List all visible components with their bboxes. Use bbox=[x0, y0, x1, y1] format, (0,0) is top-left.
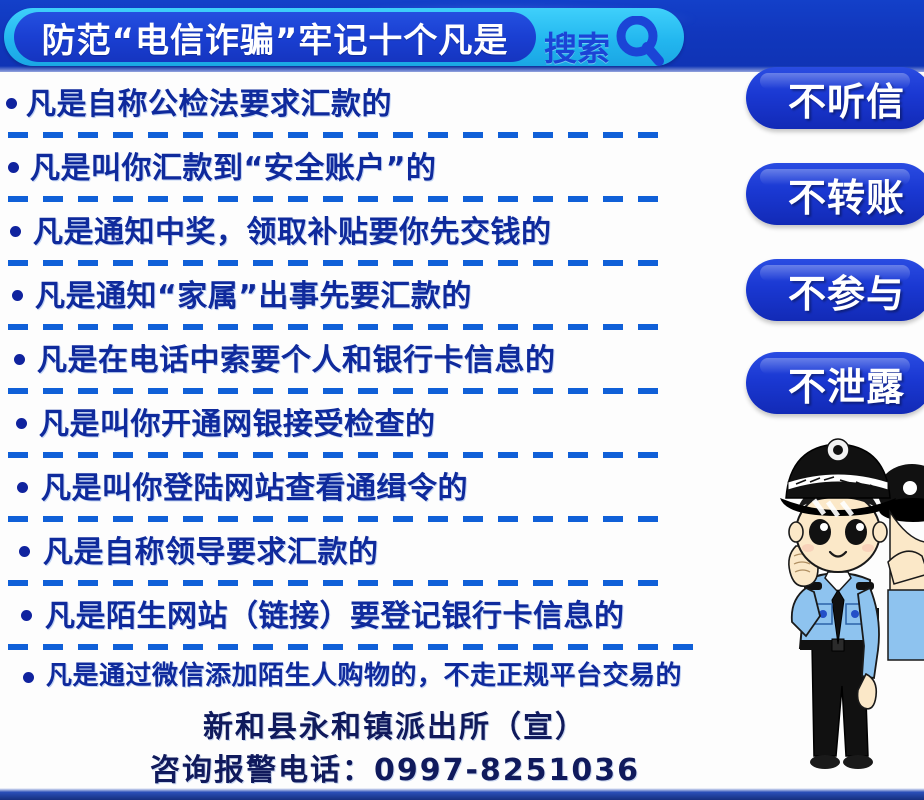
anti-fraud-poster: 防范“电信诈骗”牢记十个凡是 搜索 凡是自称公检法要求汇款的 凡是叫你汇款到“安… bbox=[0, 0, 924, 800]
page-title: 防范“电信诈骗”牢记十个凡是 bbox=[42, 13, 509, 62]
bullet-icon bbox=[19, 546, 30, 557]
slogan-pill-2[interactable]: 不参与 bbox=[746, 259, 924, 321]
list-item: 凡是叫你汇款到“安全账户”的 bbox=[0, 138, 720, 202]
list-item: 凡是叫你登陆网站查看通缉令的 bbox=[0, 458, 720, 522]
list-item-label: 凡是通过微信添加陌生人购物的，不走正规平台交易的 bbox=[46, 655, 682, 692]
header-banner: 防范“电信诈骗”牢记十个凡是 搜索 bbox=[4, 8, 684, 66]
list-item: 凡是自称公检法要求汇款的 bbox=[0, 74, 720, 138]
hotline-number: 咨询报警电话：0997-8251036 bbox=[0, 749, 790, 792]
bullet-icon bbox=[14, 354, 25, 365]
list-item: 凡是通过微信添加陌生人购物的，不走正规平台交易的 bbox=[0, 650, 720, 714]
search-label[interactable]: 搜索 bbox=[544, 22, 610, 70]
list-item-label: 凡是自称领导要求汇款的 bbox=[43, 527, 379, 571]
bullet-icon bbox=[23, 672, 34, 683]
list-item: 凡是自称领导要求汇款的 bbox=[0, 522, 720, 586]
slogan-pill-0[interactable]: 不听信 bbox=[746, 67, 924, 129]
bullet-icon bbox=[12, 290, 23, 301]
bullet-icon bbox=[10, 226, 21, 237]
header-banner-inner: 防范“电信诈骗”牢记十个凡是 bbox=[14, 12, 536, 62]
list-item: 凡是陌生网站（链接）要登记银行卡信息的 bbox=[0, 586, 720, 650]
slogan-pill-3[interactable]: 不泄露 bbox=[746, 352, 924, 414]
slogan-pill-1[interactable]: 不转账 bbox=[746, 163, 924, 225]
list-item-label: 凡是通知“家属”出事先要汇款的 bbox=[35, 271, 472, 315]
list-item-label: 凡是自称公检法要求汇款的 bbox=[26, 79, 392, 123]
magnifier-icon[interactable] bbox=[616, 16, 664, 66]
list-item: 凡是叫你开通网银接受检查的 bbox=[0, 394, 720, 458]
bullet-icon bbox=[17, 482, 28, 493]
footer: 新和县永和镇派出所（宣） 咨询报警电话：0997-8251036 bbox=[0, 706, 790, 792]
bullet-icon bbox=[6, 98, 17, 109]
slogan-label: 不听信 bbox=[788, 71, 905, 126]
bullet-icon bbox=[8, 162, 19, 173]
bullet-icon bbox=[21, 610, 32, 621]
list-item: 凡是在电话中索要个人和银行卡信息的 bbox=[0, 330, 720, 394]
slogan-label: 不转账 bbox=[788, 167, 905, 222]
list-item-label: 凡是陌生网站（链接）要登记银行卡信息的 bbox=[45, 591, 625, 635]
list-item-label: 凡是叫你登陆网站查看通缉令的 bbox=[41, 463, 468, 507]
rules-list: 凡是自称公检法要求汇款的 凡是叫你汇款到“安全账户”的 凡是通知中奖，领取补贴要… bbox=[0, 74, 720, 714]
issuing-organization: 新和县永和镇派出所（宣） bbox=[0, 706, 790, 749]
bullet-icon bbox=[16, 418, 27, 429]
police-officer-mascot bbox=[770, 412, 924, 792]
list-item: 凡是通知中奖，领取补贴要你先交钱的 bbox=[0, 202, 720, 266]
slogan-label: 不参与 bbox=[788, 263, 905, 318]
list-item-label: 凡是在电话中索要个人和银行卡信息的 bbox=[37, 335, 556, 379]
slogan-label: 不泄露 bbox=[788, 356, 905, 411]
list-item-label: 凡是通知中奖，领取补贴要你先交钱的 bbox=[33, 207, 552, 251]
list-item: 凡是通知“家属”出事先要汇款的 bbox=[0, 266, 720, 330]
list-item-label: 凡是叫你开通网银接受检查的 bbox=[39, 399, 436, 443]
list-item-label: 凡是叫你汇款到“安全账户”的 bbox=[30, 143, 436, 187]
